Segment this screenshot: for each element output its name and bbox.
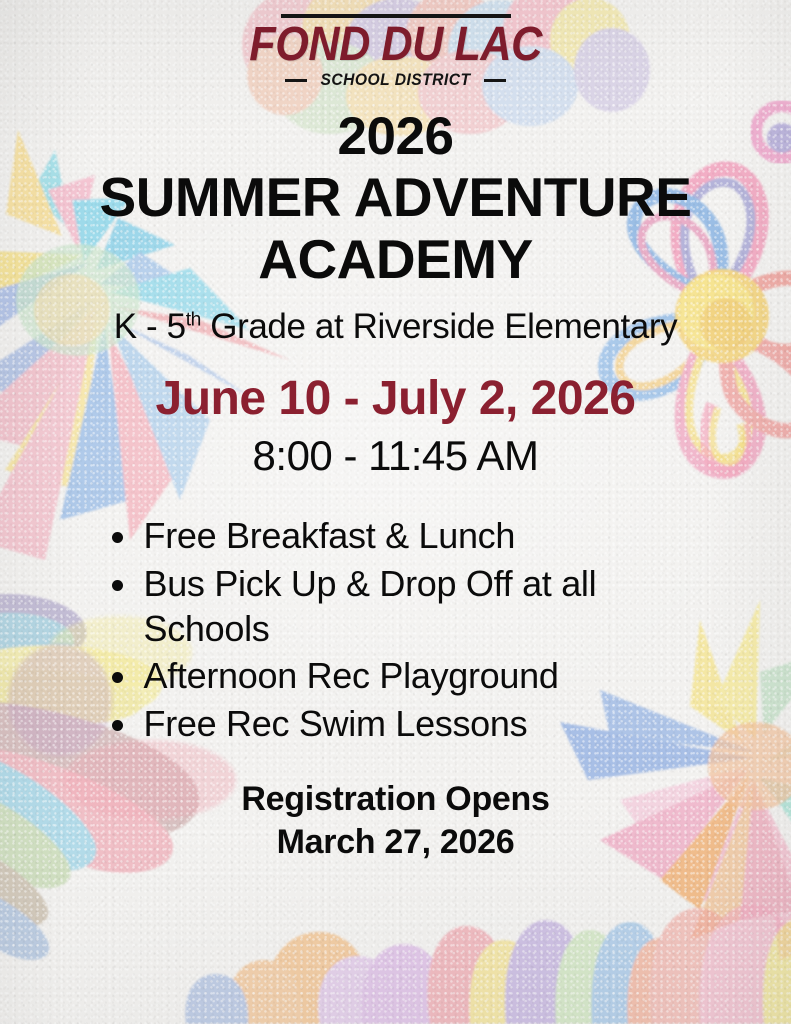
district-logo: FOND DU LAC SCHOOL DISTRICT [246, 14, 546, 90]
logo-subtitle: SCHOOL DISTRICT [321, 70, 471, 90]
logo-district-name: FOND DU LAC [249, 21, 542, 68]
logo-subtitle-group: SCHOOL DISTRICT [285, 70, 506, 90]
flyer-content: FOND DU LAC SCHOOL DISTRICT 2026 SUMMER … [0, 0, 791, 1024]
program-times: 8:00 - 11:45 AM [253, 432, 539, 480]
title-year: 2026 [46, 108, 746, 165]
logo-dash-right [484, 79, 506, 82]
registration-notice: Registration Opens March 27, 2026 [241, 778, 549, 865]
registration-line-2: March 27, 2026 [241, 821, 549, 865]
grade-ordinal-suffix: th [186, 310, 201, 331]
features-list: Free Breakfast & Lunch Bus Pick Up & Dro… [96, 514, 696, 749]
list-item: Bus Pick Up & Drop Off at all Schools [96, 562, 696, 651]
registration-line-1: Registration Opens [241, 778, 549, 822]
program-dates: June 10 - July 2, 2026 [156, 371, 636, 426]
list-item: Free Rec Swim Lessons [96, 702, 696, 747]
grade-location-rest: Grade at Riverside Elementary [201, 307, 677, 346]
summer-academy-flyer: FOND DU LAC SCHOOL DISTRICT 2026 SUMMER … [0, 0, 791, 1024]
grade-location-line: K - 5th Grade at Riverside Elementary [114, 307, 677, 347]
list-item: Afternoon Rec Playground [96, 654, 696, 699]
page-title: 2026 SUMMER ADVENTURE ACADEMY [46, 108, 746, 290]
logo-dash-left [285, 79, 307, 82]
list-item: Free Breakfast & Lunch [96, 514, 696, 559]
grade-prefix: K - 5 [114, 307, 186, 346]
title-program-name: SUMMER ADVENTURE ACADEMY [46, 167, 746, 290]
